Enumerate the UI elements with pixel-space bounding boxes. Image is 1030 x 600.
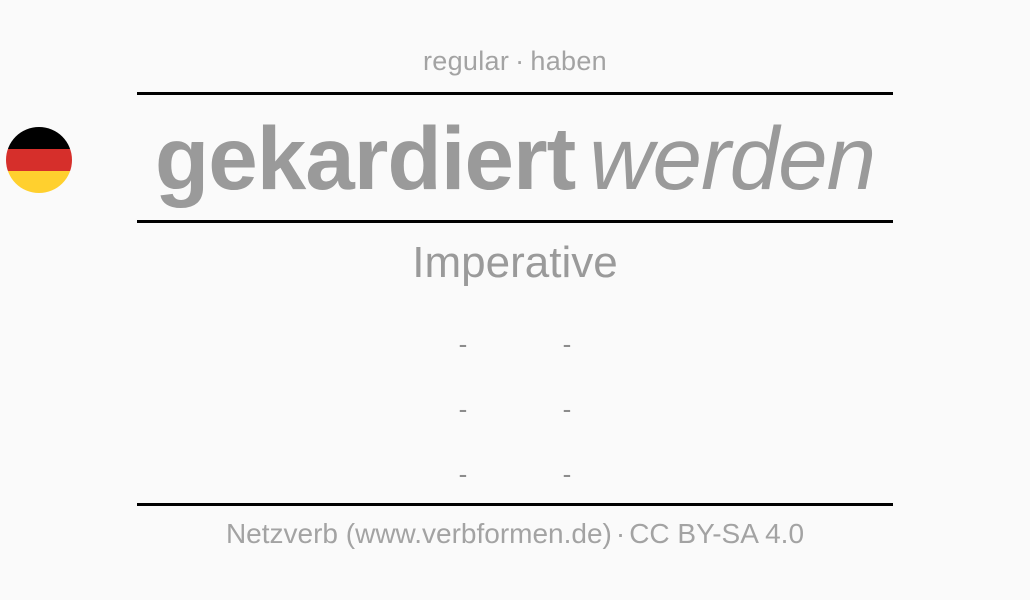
cell-left: -: [411, 442, 515, 507]
verb-class-label: regular: [423, 46, 509, 76]
verb-conjugation-card: regular·haben gekardiertwerden Imperativ…: [0, 0, 1030, 600]
header-separator: ·: [509, 46, 530, 76]
cell-right: -: [515, 442, 619, 507]
section-heading-imperative: Imperative: [0, 238, 1030, 288]
divider-middle: [137, 220, 893, 223]
auxiliary-infinitive-text: werden: [575, 108, 875, 208]
footer-source: Netzverb (www.verbformen.de): [226, 518, 612, 549]
auxiliary-label: haben: [530, 46, 607, 76]
footer-license: CC BY-SA 4.0: [629, 518, 804, 549]
cell-right: -: [515, 377, 619, 442]
page-title: gekardiertwerden: [0, 103, 1030, 213]
cell-right: -: [515, 312, 619, 377]
footer-attribution: Netzverb (www.verbformen.de)·CC BY-SA 4.…: [0, 518, 1030, 550]
cell-left: -: [411, 377, 515, 442]
table-row: - -: [0, 377, 1030, 442]
divider-top: [137, 92, 893, 95]
table-row: - -: [0, 312, 1030, 377]
table-row: - -: [0, 442, 1030, 507]
participle-text: gekardiert: [155, 108, 575, 208]
footer-separator: ·: [612, 518, 629, 549]
verb-meta-header: regular·haben: [0, 46, 1030, 77]
divider-bottom: [137, 503, 893, 506]
conjugation-table: - - - - - -: [0, 312, 1030, 507]
cell-left: -: [411, 312, 515, 377]
